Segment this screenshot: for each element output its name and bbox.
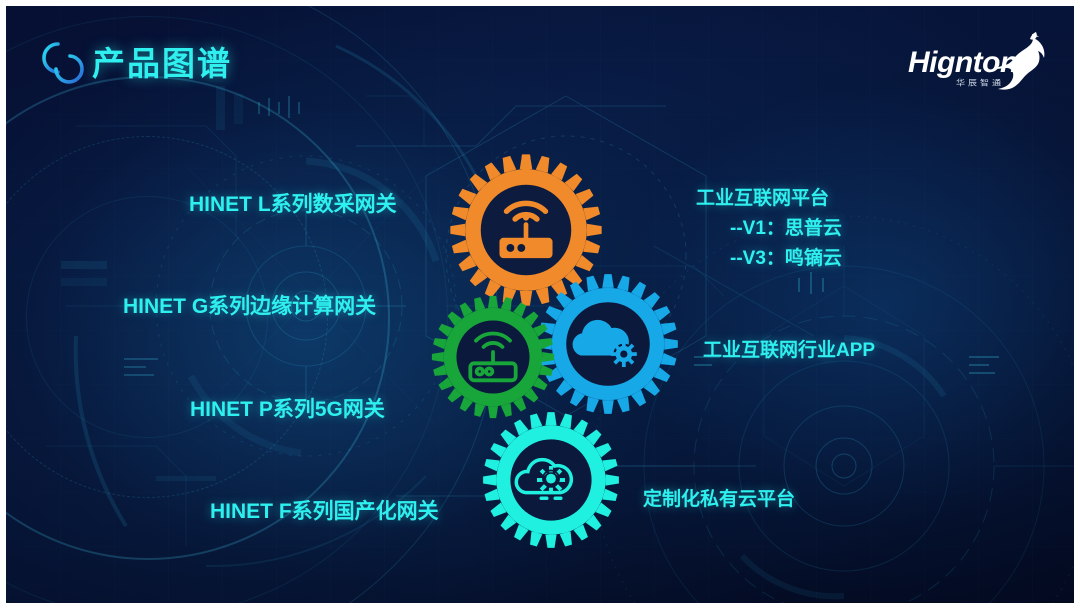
label-hinet-g: HINET G系列边缘计算网关	[123, 290, 376, 320]
label-hinet-p: HINET P系列5G网关	[190, 393, 385, 423]
platform-line-3: --V3：鸣镝云	[696, 244, 842, 274]
page-title: 产品图谱	[92, 40, 232, 88]
brand-subtitle: 华辰智通	[956, 77, 1004, 89]
gear-turquoise	[481, 410, 621, 550]
label-hinet-f: HINET F系列国产化网关	[210, 495, 439, 525]
gear-green	[430, 294, 556, 420]
label-private-cloud: 定制化私有云平台	[643, 484, 795, 511]
gear-blue	[536, 272, 680, 416]
label-industrial-app: 工业互联网行业APP	[703, 335, 875, 362]
platform-line-2: --V1：思普云	[696, 214, 842, 244]
brand-wordmark: Hignton	[908, 46, 1018, 80]
platform-line-1: 工业互联网平台	[696, 184, 842, 214]
right-platform-block: 工业互联网平台 --V1：思普云 --V3：鸣镝云	[696, 184, 842, 274]
brand-logo: Hignton 华辰智通	[908, 32, 1048, 94]
brand-circles-icon	[34, 38, 86, 90]
label-hinet-l: HINET L系列数采网关	[189, 188, 397, 218]
slide-canvas: 产品图谱 Hignton 华辰智通 HINET L系列数采网关 HINET G系…	[6, 6, 1074, 603]
